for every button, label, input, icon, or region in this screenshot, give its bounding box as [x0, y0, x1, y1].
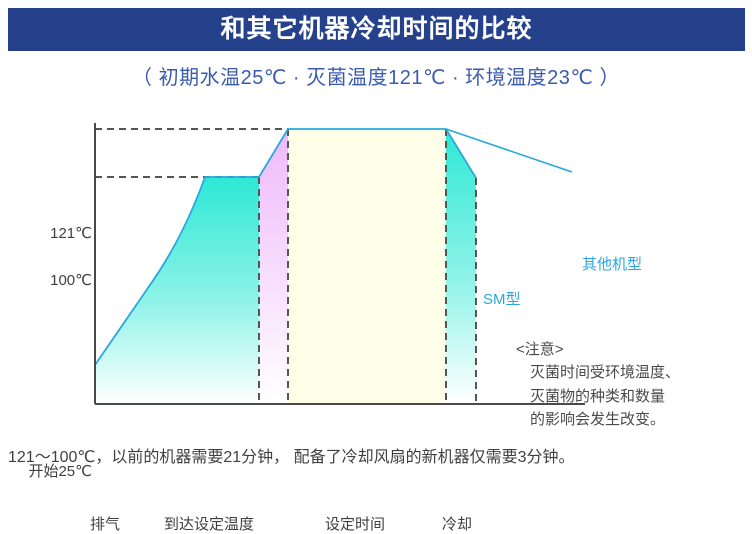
series-label-sm: SM型	[483, 288, 521, 309]
x-axis-label-reach-temp: 到达设定温度	[164, 513, 254, 534]
x-axis-label-set-time: 设定时间	[325, 513, 385, 534]
temperature-chart: 121℃ 100℃ 开始25℃ 其他机型 SM型 <注意> 灭菌时间受环境温度、…	[0, 105, 752, 415]
note-line: 的影响会发生改变。	[530, 408, 680, 431]
y-tick-label-100: 100℃	[50, 271, 92, 289]
subtitle: （ 初期水温25℃ · 灭菌温度121℃ · 环境温度23℃ ）	[0, 61, 752, 90]
note-line: 灭菌物的种类和数量	[530, 385, 680, 408]
x-axis-label-cooling: 冷却	[442, 513, 472, 534]
phase-fill-hold	[288, 129, 446, 404]
phase-fill-heatup	[95, 177, 259, 404]
page-title: 和其它机器冷却时间的比较	[220, 17, 532, 42]
footer-note: 121～100℃，以前的机器需要21分钟， 配备了冷却风扇的新机器仅需要3分钟。	[8, 443, 748, 467]
series-label-other: 其他机型	[582, 253, 642, 274]
y-tick-label-121: 121℃	[50, 224, 92, 242]
title-banner: 和其它机器冷却时间的比较	[8, 8, 745, 51]
note-heading: <注意>	[516, 338, 680, 361]
x-axis-label-exhaust: 排气	[90, 513, 120, 534]
note-block: <注意> 灭菌时间受环境温度、 灭菌物的种类和数量 的影响会发生改变。	[516, 338, 680, 431]
note-line: 灭菌时间受环境温度、	[530, 361, 680, 384]
